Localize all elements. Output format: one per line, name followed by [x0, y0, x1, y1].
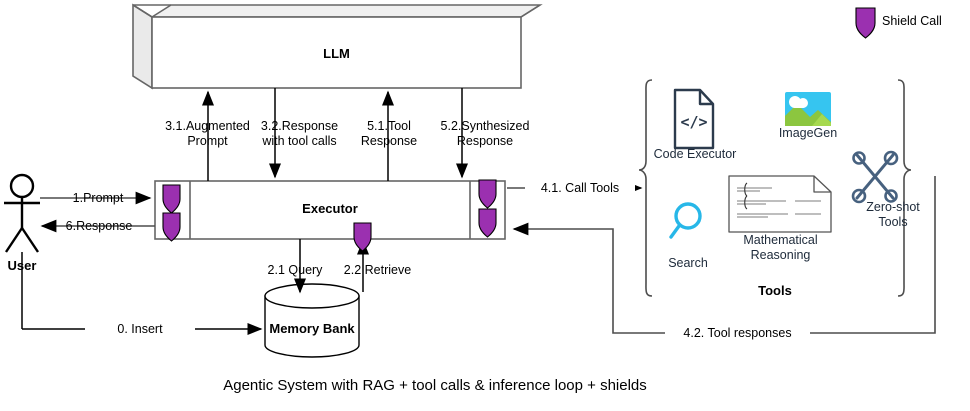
tool-label-mathematical-reasoning-line1[interactable]: Mathematical	[723, 233, 838, 248]
crossed-wrenches-icon	[853, 152, 897, 202]
diagram-caption: Agentic System with RAG + tool calls & i…	[0, 377, 870, 394]
code-document-icon: </>	[675, 90, 713, 148]
user-label: User	[0, 258, 44, 273]
edge-label-prompt: 1.Prompt	[48, 191, 148, 205]
tool-label-imagegen[interactable]: ImageGen	[763, 126, 853, 141]
tool-label-mathematical-reasoning-line2[interactable]: Reasoning	[723, 248, 838, 263]
magnifier-icon	[671, 204, 700, 237]
image-icon	[785, 92, 831, 126]
tools-brace-right	[898, 80, 911, 296]
diagram-canvas: </>	[0, 0, 970, 411]
svg-text:</>: </>	[680, 113, 707, 131]
edge-label-retrieve: 2.2 Retrieve	[325, 263, 430, 277]
edge-label-call-tools: 4.1. Call Tools	[525, 181, 635, 195]
user-actor[interactable]	[4, 175, 40, 252]
edge-insert	[22, 252, 261, 329]
edge-label-insert: 0. Insert	[85, 322, 195, 336]
diagram-vector-layer: </>	[0, 0, 970, 411]
edge-label-response: 6.Response	[45, 219, 153, 233]
memory-bank-label: Memory Bank	[252, 321, 372, 336]
executor-label: Executor	[190, 201, 470, 216]
tool-label-search[interactable]: Search	[648, 256, 728, 271]
shield-memory-retrieve	[354, 223, 371, 251]
tool-label-zero-shot-tools-line2[interactable]: Tools	[838, 215, 948, 230]
tool-label-zero-shot-tools-line1[interactable]: Zero-shot	[838, 200, 948, 215]
tools-group-label: Tools	[700, 283, 850, 298]
llm-label: LLM	[0, 46, 673, 61]
edge-label-tool-responses: 4.2. Tool responses	[665, 326, 810, 340]
edge-label-synthesized-response-line1: 5.2.Synthesized	[415, 119, 555, 133]
tool-label-code-executor[interactable]: Code Executor	[645, 147, 745, 162]
math-document-icon	[729, 176, 831, 232]
legend-label: Shield Call	[882, 14, 942, 28]
edge-label-synthesized-response-line2: Response	[415, 134, 555, 148]
legend-shield-icon	[856, 8, 875, 38]
